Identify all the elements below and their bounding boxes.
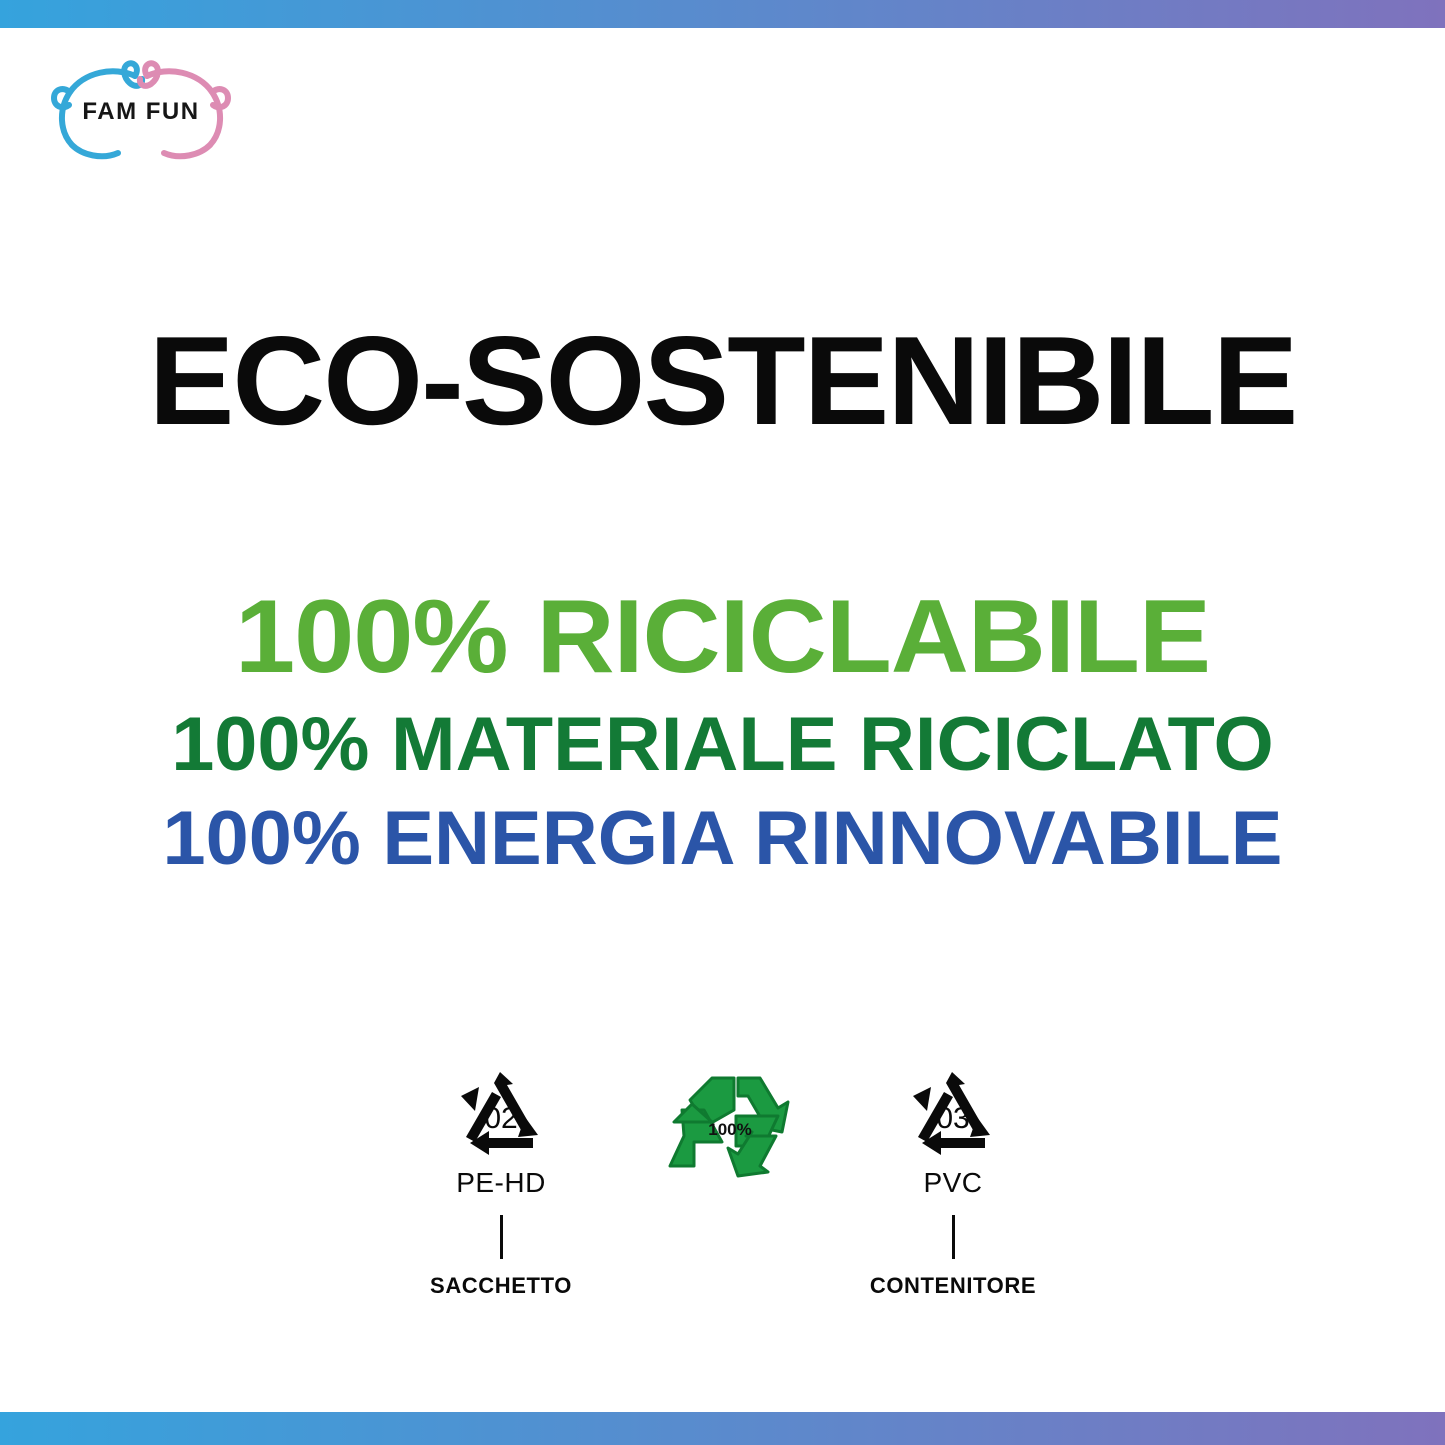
claim-renewable-energy: 100% ENERGIA RINNOVABILE bbox=[0, 801, 1445, 877]
material-code-pehd: PE-HD bbox=[401, 1167, 601, 1199]
symbol-group-recycle: 100% bbox=[630, 1070, 830, 1190]
eco-sustainability-infographic: FAM FUN ECO-SOSTENIBILE 100% RICICLABILE… bbox=[0, 0, 1445, 1445]
claim-recycled-material: 100% MATERIALE RICICLATO bbox=[0, 707, 1445, 783]
headline-block: ECO-SOSTENIBILE bbox=[0, 318, 1445, 444]
top-gradient-bar bbox=[0, 0, 1445, 28]
connector-line-bag bbox=[500, 1215, 503, 1259]
resin-code-triangle-icon-02: 02 bbox=[443, 1062, 559, 1166]
brand-logo: FAM FUN bbox=[36, 52, 246, 172]
resin-code-number-03: 03 bbox=[936, 1102, 969, 1135]
fam-fun-logo-icon bbox=[36, 52, 246, 172]
resin-code-number-02: 02 bbox=[484, 1102, 517, 1135]
bottom-gradient-bar bbox=[0, 1412, 1445, 1445]
page-title: ECO-SOSTENIBILE bbox=[0, 318, 1445, 444]
symbol-group-bag: 02 PE-HD SACCHETTO bbox=[401, 1062, 601, 1299]
symbol-label-contenitore: CONTENITORE bbox=[853, 1273, 1053, 1299]
symbols-row: 02 PE-HD SACCHETTO bbox=[0, 1062, 1445, 1362]
recycle-percent-label: 100% bbox=[630, 1120, 830, 1140]
material-code-pvc: PVC bbox=[853, 1167, 1053, 1199]
connector-line-container bbox=[952, 1215, 955, 1259]
symbol-label-sacchetto: SACCHETTO bbox=[401, 1273, 601, 1299]
resin-code-triangle-icon-03: 03 bbox=[895, 1062, 1011, 1166]
claim-recyclable: 100% RICICLABILE bbox=[0, 585, 1445, 689]
claims-block: 100% RICICLABILE 100% MATERIALE RICICLAT… bbox=[0, 585, 1445, 877]
symbol-group-container: 03 PVC CONTENITORE bbox=[853, 1062, 1053, 1299]
